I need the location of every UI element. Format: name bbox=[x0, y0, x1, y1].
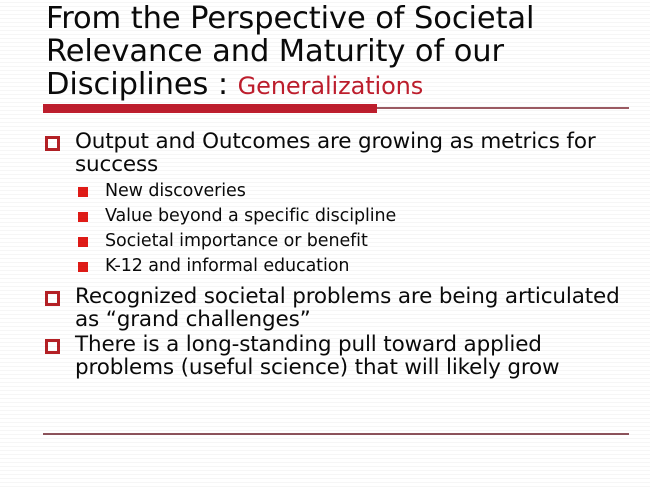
list-item-label: Recognized societal problems are being a… bbox=[75, 285, 634, 331]
hollow-square-bullet-icon bbox=[45, 136, 60, 151]
title-line-3: Disciplines : bbox=[46, 67, 238, 102]
list-item: Output and Outcomes are growing as metri… bbox=[44, 130, 634, 176]
list-item: There is a long-standing pull toward app… bbox=[44, 333, 634, 379]
presentation-slide: From the Perspective of Societal Relevan… bbox=[0, 0, 650, 487]
hollow-square-bullet-icon bbox=[45, 291, 60, 306]
title-divider-thick-bar bbox=[43, 104, 377, 113]
list-item-label: Societal importance or benefit bbox=[105, 229, 634, 254]
title-divider bbox=[43, 104, 629, 113]
list-item: Societal importance or benefit bbox=[76, 229, 634, 254]
list-item-label: New discoveries bbox=[105, 179, 634, 204]
list-item: New discoveries bbox=[76, 179, 634, 204]
sub-bullet-list: New discoveries Value beyond a specific … bbox=[44, 179, 634, 279]
list-item-label: K-12 and informal education bbox=[105, 254, 634, 279]
bullet-list: Output and Outcomes are growing as metri… bbox=[44, 130, 634, 381]
title-line-1: From the Perspective of Societal bbox=[46, 1, 534, 36]
title-line-2: Relevance and Maturity of our bbox=[46, 34, 504, 69]
title-text-container: From the Perspective of Societal Relevan… bbox=[46, 2, 636, 103]
list-item-label: Output and Outcomes are growing as metri… bbox=[75, 130, 634, 176]
filled-square-bullet-icon bbox=[78, 237, 88, 247]
filled-square-bullet-icon bbox=[78, 262, 88, 272]
slide-title: From the Perspective of Societal Relevan… bbox=[46, 2, 636, 103]
list-item: Value beyond a specific discipline bbox=[76, 204, 634, 229]
list-item: K-12 and informal education bbox=[76, 254, 634, 279]
bottom-divider bbox=[43, 433, 629, 435]
title-accent-generalizations: Generalizations bbox=[238, 72, 424, 100]
hollow-square-bullet-icon bbox=[45, 339, 60, 354]
filled-square-bullet-icon bbox=[78, 212, 88, 222]
filled-square-bullet-icon bbox=[78, 187, 88, 197]
list-item-label: There is a long-standing pull toward app… bbox=[75, 333, 634, 379]
list-item: Recognized societal problems are being a… bbox=[44, 285, 634, 331]
list-item-label: Value beyond a specific discipline bbox=[105, 204, 634, 229]
